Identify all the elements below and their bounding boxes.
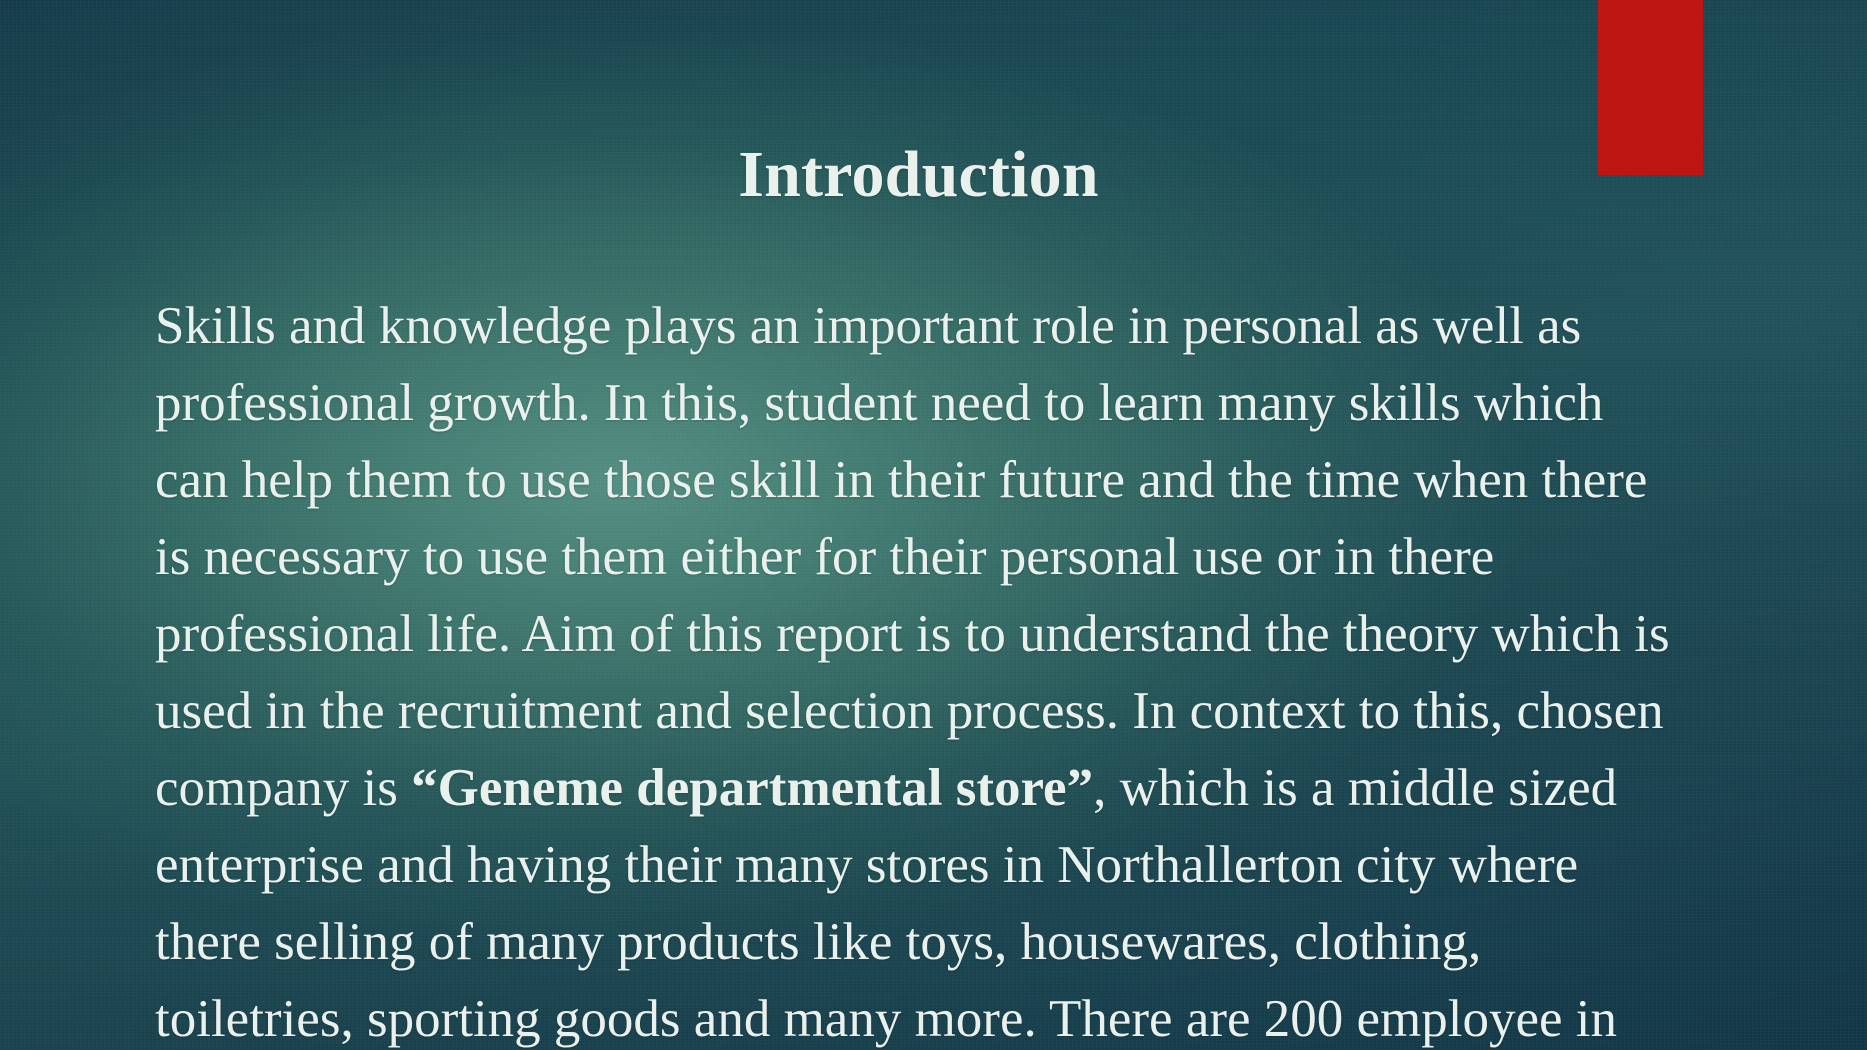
body-text-company-name: “Geneme departmental store”	[411, 759, 1093, 817]
slide-body-text: Skills and knowledge plays an important …	[155, 288, 1685, 1050]
body-text-segment-1: Skills and knowledge plays an important …	[155, 297, 1670, 817]
page-title: Introduction	[0, 139, 1867, 212]
presentation-slide: Introduction Skills and knowledge plays …	[0, 0, 1867, 1050]
